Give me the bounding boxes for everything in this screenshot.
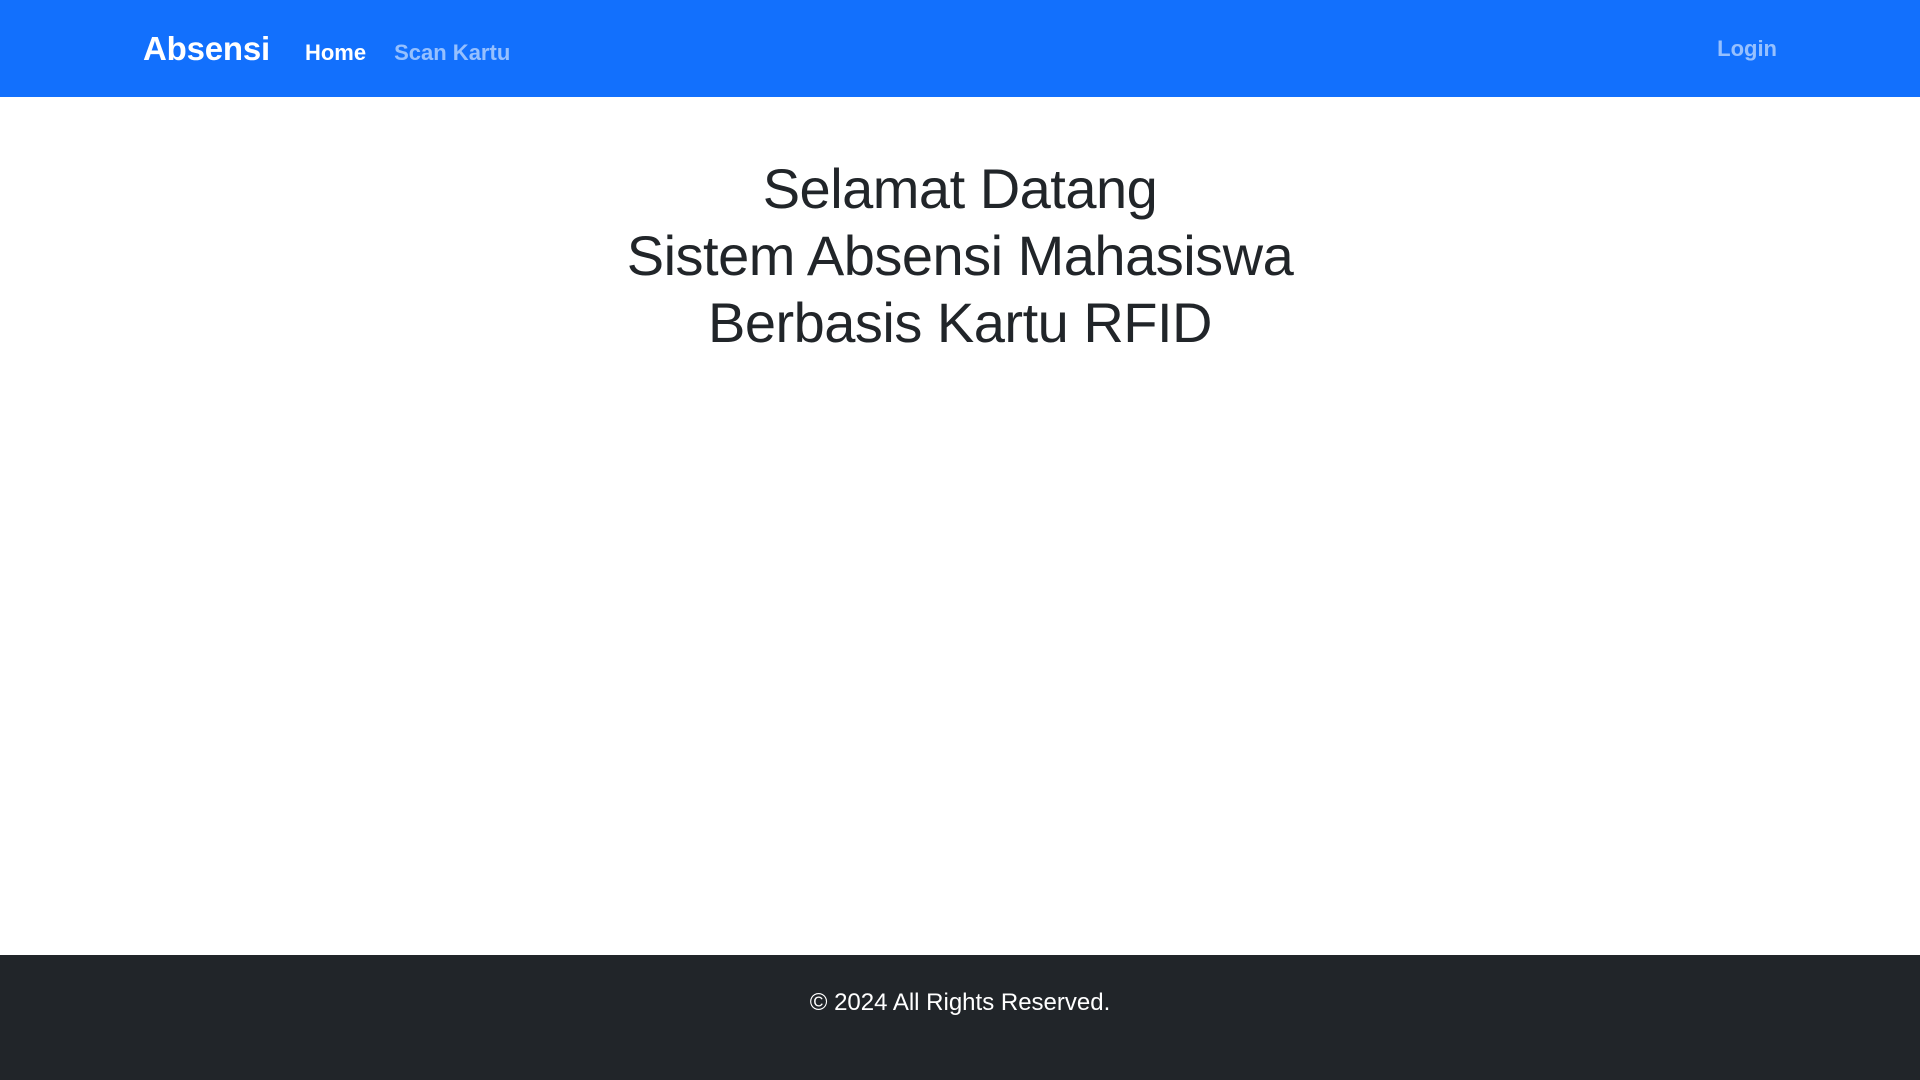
hero-line-1: Selamat Datang: [0, 155, 1920, 222]
main-content: Selamat Datang Sistem Absensi Mahasiswa …: [0, 97, 1920, 955]
page-footer: © 2024 All Rights Reserved.: [0, 955, 1920, 1080]
hero-section: Selamat Datang Sistem Absensi Mahasiswa …: [0, 155, 1920, 357]
top-navbar: Absensi Home Scan Kartu Login: [0, 0, 1920, 97]
nav-link-home[interactable]: Home: [305, 42, 366, 64]
primary-nav-links: Home Scan Kartu: [305, 42, 510, 64]
footer-copyright-text: © 2024 All Rights Reserved.: [810, 991, 1111, 1015]
hero-line-3: Berbasis Kartu RFID: [0, 289, 1920, 356]
hero-line-2: Sistem Absensi Mahasiswa: [0, 222, 1920, 289]
navbar-right-group: Login: [1717, 38, 1777, 60]
nav-link-scan-kartu[interactable]: Scan Kartu: [394, 42, 510, 64]
brand-logo-absensi[interactable]: Absensi: [143, 32, 270, 65]
nav-link-login[interactable]: Login: [1717, 38, 1777, 60]
navbar-left-group: Absensi Home Scan Kartu: [143, 32, 510, 65]
page-title: Selamat Datang Sistem Absensi Mahasiswa …: [0, 155, 1920, 357]
